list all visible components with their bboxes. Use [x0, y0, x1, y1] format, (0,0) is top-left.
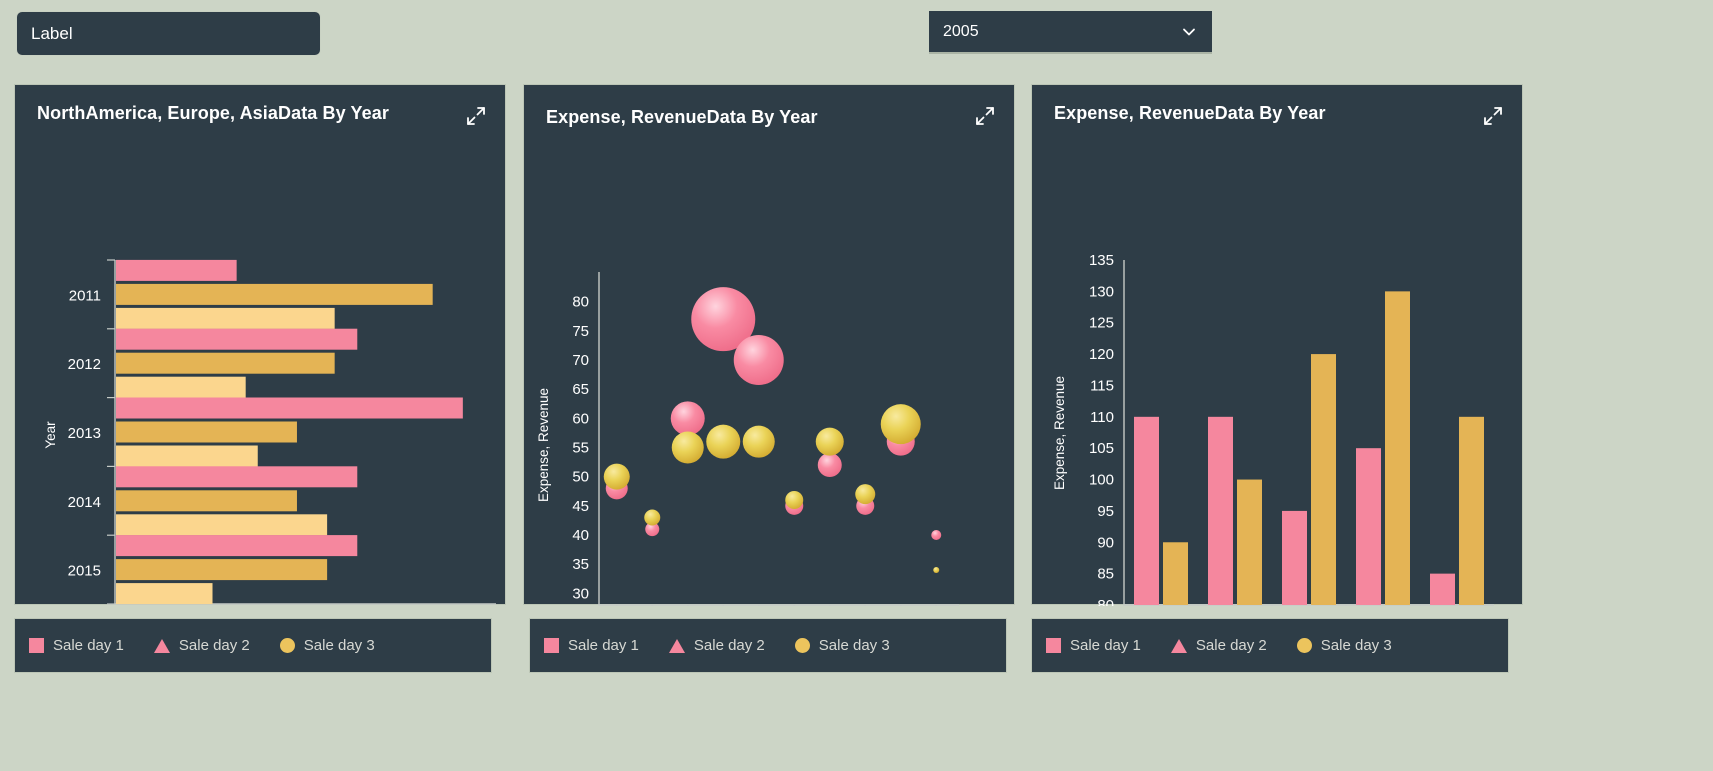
y-tick-label: 50: [572, 469, 589, 486]
bubble[interactable]: [933, 567, 939, 573]
legend-3: Sale day 1 Sale day 2 Sale day 3: [1031, 618, 1509, 673]
y-tick-label: 60: [572, 410, 589, 427]
y-tick-label: 80: [1097, 597, 1114, 606]
chart-horizontal-bar: 2011201220132014201505001,0001,5002,0002…: [15, 85, 507, 606]
legend-item[interactable]: Sale day 1: [29, 637, 124, 654]
legend-label: Sale day 2: [1196, 637, 1267, 654]
legend-label: Sale day 3: [819, 637, 890, 654]
y-tick-label: 30: [572, 585, 589, 602]
bubble[interactable]: [931, 530, 941, 540]
triangle-marker-icon: [1171, 639, 1187, 653]
legend-1: Sale day 1 Sale day 2 Sale day 3: [14, 618, 492, 673]
y-tick-label: 55: [572, 440, 589, 457]
y-tick-label: 95: [1097, 503, 1114, 520]
y-tick-label: 2013: [68, 425, 101, 442]
panel-bar-vertical: Expense, RevenueData By Year 80859095100…: [1031, 84, 1523, 605]
bubble[interactable]: [672, 432, 704, 464]
bar[interactable]: [116, 422, 297, 443]
bubble[interactable]: [881, 404, 921, 444]
y-tick-label: 90: [1097, 534, 1114, 551]
top-toolbar: Label 2005: [0, 0, 1713, 70]
bar[interactable]: [116, 446, 258, 467]
year-select-value: 2005: [943, 23, 979, 41]
bubble[interactable]: [855, 484, 875, 504]
bar[interactable]: [116, 398, 463, 419]
triangle-marker-icon: [669, 639, 685, 653]
bubble[interactable]: [644, 510, 660, 526]
bar[interactable]: [1430, 574, 1455, 605]
y-tick-label: 2011: [69, 287, 101, 304]
legend-item[interactable]: Sale day 2: [1171, 637, 1267, 654]
legend-item[interactable]: Sale day 3: [1297, 637, 1392, 654]
bar[interactable]: [116, 260, 237, 281]
legend-item[interactable]: Sale day 1: [1046, 637, 1141, 654]
legend-label: Sale day 3: [1321, 637, 1392, 654]
y-tick-label: 85: [1097, 566, 1114, 583]
legend-item[interactable]: Sale day 3: [795, 637, 890, 654]
circle-marker-icon: [1297, 638, 1312, 653]
y-tick-label: 45: [572, 498, 589, 515]
legend-label: Sale day 1: [568, 637, 639, 654]
y-tick-label: 2015: [68, 563, 101, 580]
legend-item[interactable]: Sale day 2: [154, 637, 250, 654]
legend-label: Sale day 2: [179, 637, 250, 654]
y-tick-label: 105: [1089, 440, 1114, 457]
y-tick-label: 115: [1090, 377, 1114, 394]
legend-label: Sale day 1: [1070, 637, 1141, 654]
bar[interactable]: [1237, 480, 1262, 605]
bar[interactable]: [1282, 511, 1307, 605]
bar[interactable]: [116, 514, 327, 535]
bubble[interactable]: [818, 453, 842, 477]
legend-item[interactable]: Sale day 2: [669, 637, 765, 654]
legend-item[interactable]: Sale day 3: [280, 637, 375, 654]
bar[interactable]: [116, 308, 335, 329]
bar[interactable]: [1356, 448, 1381, 605]
y-axis-title: Expense, Revenue: [1052, 376, 1067, 490]
bar[interactable]: [1311, 354, 1336, 605]
bar[interactable]: [116, 559, 327, 580]
bar[interactable]: [116, 377, 246, 398]
y-tick-label: 35: [572, 556, 589, 573]
y-tick-label: 100: [1089, 472, 1114, 489]
y-tick-label: 120: [1089, 346, 1114, 363]
legend-label: Sale day 3: [304, 637, 375, 654]
bar[interactable]: [1134, 417, 1159, 605]
bar[interactable]: [116, 490, 297, 511]
bar[interactable]: [1163, 542, 1188, 605]
bar[interactable]: [1208, 417, 1233, 605]
bar[interactable]: [116, 535, 357, 556]
y-tick-label: 135: [1089, 252, 1114, 269]
triangle-marker-icon: [154, 639, 170, 653]
y-axis-title: Year: [43, 421, 58, 449]
y-tick-label: 70: [572, 352, 589, 369]
dashboard-page: Label 2005 NorthAmerica, Europe, AsiaDat…: [0, 0, 1713, 771]
y-tick-label: 125: [1089, 315, 1114, 332]
panel-bubble: Expense, RevenueData By Year 30354045505…: [523, 84, 1015, 605]
y-tick-label: 2012: [68, 356, 101, 373]
chart-bubble: 3035404550556065707580200120022003200420…: [524, 85, 1016, 606]
bar[interactable]: [116, 353, 335, 374]
square-marker-icon: [1046, 638, 1061, 653]
legend-2: Sale day 1 Sale day 2 Sale day 3: [529, 618, 1007, 673]
bubble[interactable]: [785, 491, 803, 509]
bubble[interactable]: [604, 464, 630, 490]
y-tick-label: 40: [572, 527, 589, 544]
legend-label: Sale day 2: [694, 637, 765, 654]
chart-vertical-bar: 8085909510010511011512012513013520112012…: [1032, 85, 1524, 606]
bubble[interactable]: [743, 426, 775, 458]
bar[interactable]: [116, 284, 433, 305]
bar[interactable]: [116, 583, 213, 604]
bar[interactable]: [116, 329, 357, 350]
y-tick-label: 130: [1089, 283, 1114, 300]
label-input-text: Label: [31, 24, 73, 44]
panel-bar-horizontal: NorthAmerica, Europe, AsiaData By Year 2…: [14, 84, 506, 605]
bar[interactable]: [1385, 291, 1410, 605]
y-tick-label: 2014: [68, 494, 101, 511]
year-select[interactable]: 2005: [929, 11, 1212, 54]
y-tick-label: 110: [1090, 409, 1114, 426]
bubble[interactable]: [671, 401, 705, 435]
y-tick-label: 80: [572, 294, 589, 311]
bubble[interactable]: [734, 335, 784, 385]
y-axis-title: Expense, Revenue: [536, 388, 551, 502]
bar[interactable]: [116, 466, 357, 487]
legend-item[interactable]: Sale day 1: [544, 637, 639, 654]
circle-marker-icon: [795, 638, 810, 653]
circle-marker-icon: [280, 638, 295, 653]
legend-label: Sale day 1: [53, 637, 124, 654]
bubble[interactable]: [706, 425, 740, 459]
y-tick-label: 65: [572, 381, 589, 398]
bubble[interactable]: [816, 428, 844, 456]
bar[interactable]: [1459, 417, 1484, 605]
label-input[interactable]: Label: [16, 11, 321, 56]
chevron-down-icon: [1182, 25, 1196, 39]
square-marker-icon: [29, 638, 44, 653]
square-marker-icon: [544, 638, 559, 653]
y-tick-label: 75: [572, 323, 589, 340]
